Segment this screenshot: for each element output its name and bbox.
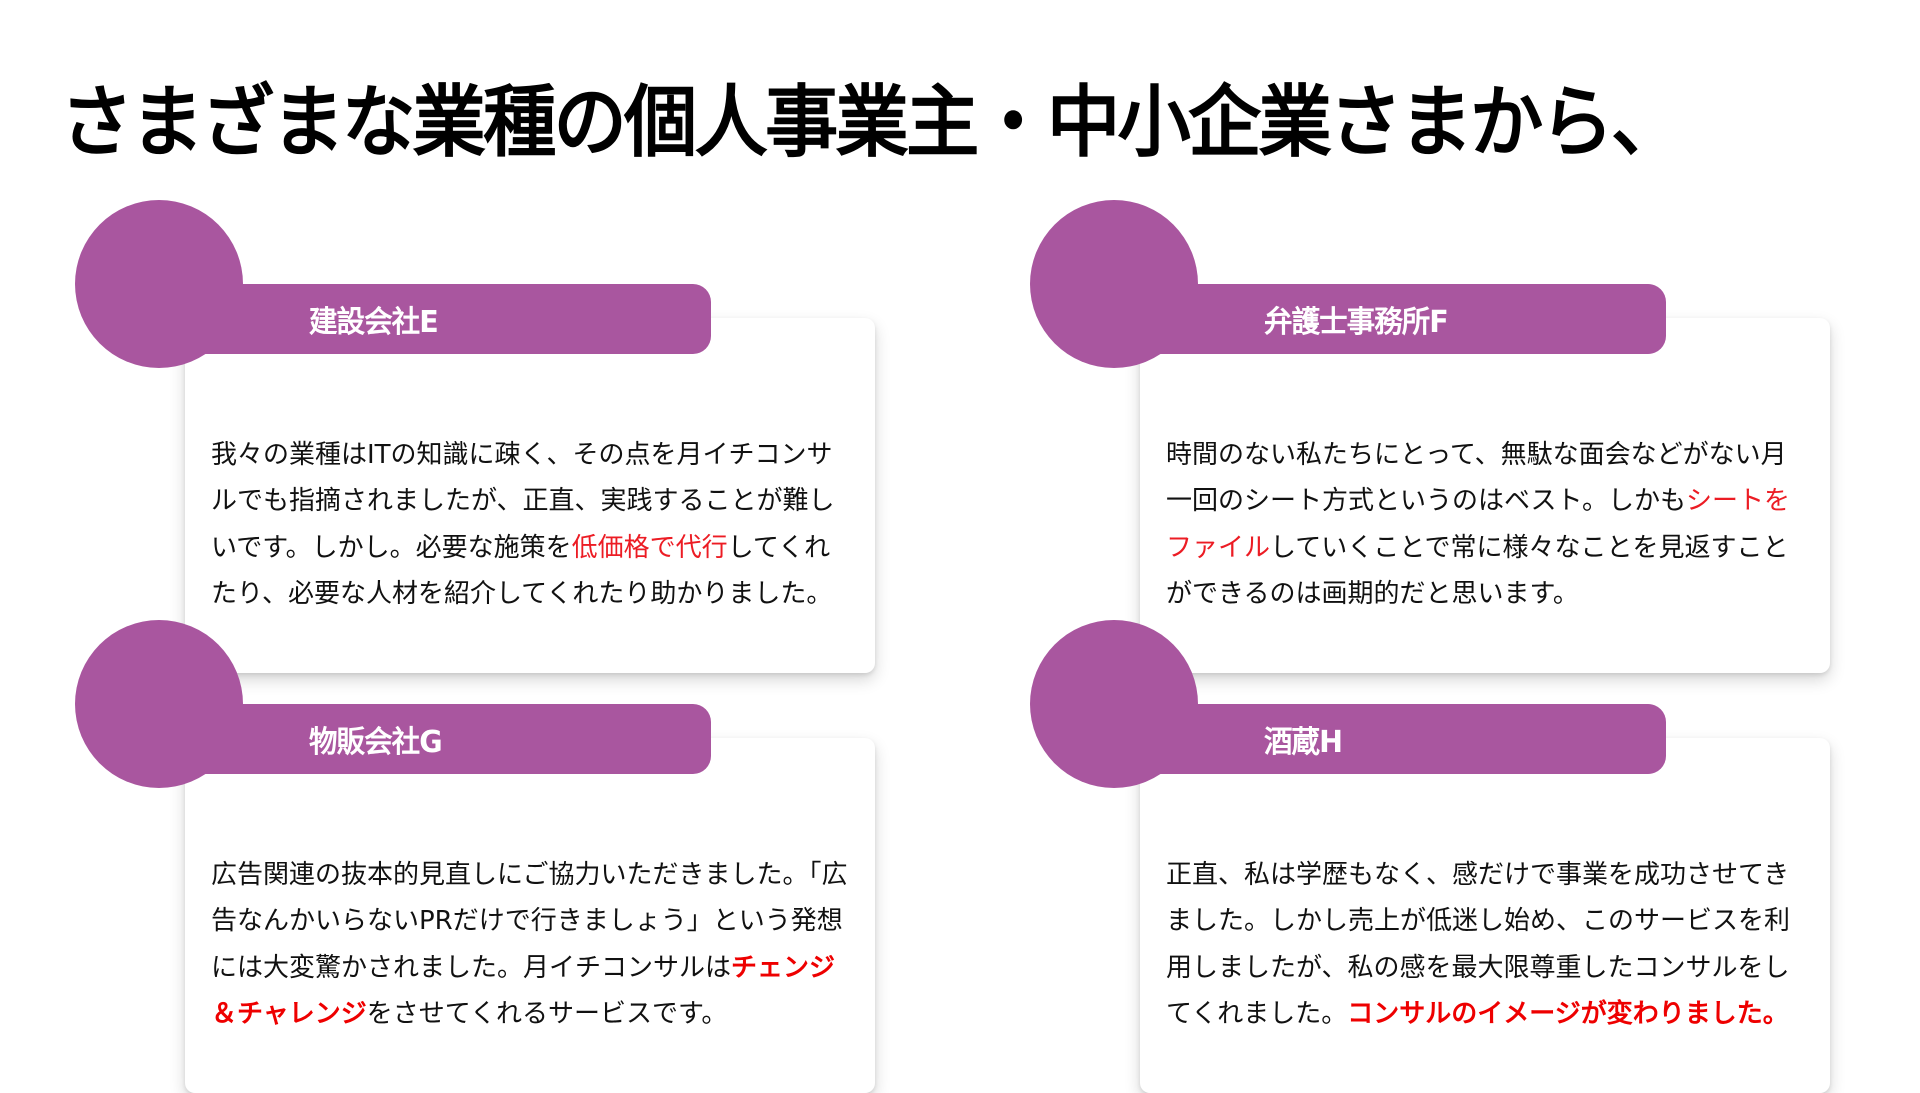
text-segment-1: コンサルのイメージが変わりました。 [1347, 999, 1788, 1029]
card-title: 弁護士事務所F [1264, 297, 1448, 341]
page-title: さまざまな業種の個人事業主・中小企業さまから、 [60, 80, 1752, 167]
card-body-panel: 我々の業種はITの知識に疎く、その点を月イチコンサルでも指摘されましたが、正直、… [185, 318, 875, 673]
card-title: 酒蔵H [1264, 717, 1342, 761]
text-segment-2: をさせてくれるサービスです。 [367, 999, 728, 1029]
card-title-bar: 酒蔵H [1114, 704, 1666, 774]
card-body-text: 我々の業種はITの知識に疎く、その点を月イチコンサルでも指摘されましたが、正直、… [211, 432, 849, 617]
testimonial-page: さまざまな業種の個人事業主・中小企業さまから、 建設会社E 我々の業種はITの知… [0, 0, 1920, 1080]
card-title: 物販会社G [309, 717, 442, 761]
card-body-panel: 時間のない私たちにとって、無駄な面会などがない月一回のシート方式というのはベスト… [1140, 318, 1830, 673]
card-body-text: 広告関連の抜本的見直しにご協力いただきました。「広告なんかいらないPRだけで行き… [211, 852, 849, 1037]
card-title-bar: 弁護士事務所F [1114, 284, 1666, 354]
card-title-bar: 物販会社G [159, 704, 711, 774]
card-title-bar: 建設会社E [159, 284, 711, 354]
card-title: 建設会社E [309, 297, 438, 341]
text-segment-1: 低価格で代行 [572, 533, 728, 563]
card-body-text: 時間のない私たちにとって、無駄な面会などがない月一回のシート方式というのはベスト… [1166, 432, 1804, 617]
card-body-text: 正直、私は学歴もなく、感だけで事業を成功させてきました。しかし売上が低迷し始め、… [1166, 852, 1804, 1037]
card-body-panel: 広告関連の抜本的見直しにご協力いただきました。「広告なんかいらないPRだけで行き… [185, 738, 875, 1093]
card-body-panel: 正直、私は学歴もなく、感だけで事業を成功させてきました。しかし売上が低迷し始め、… [1140, 738, 1830, 1093]
